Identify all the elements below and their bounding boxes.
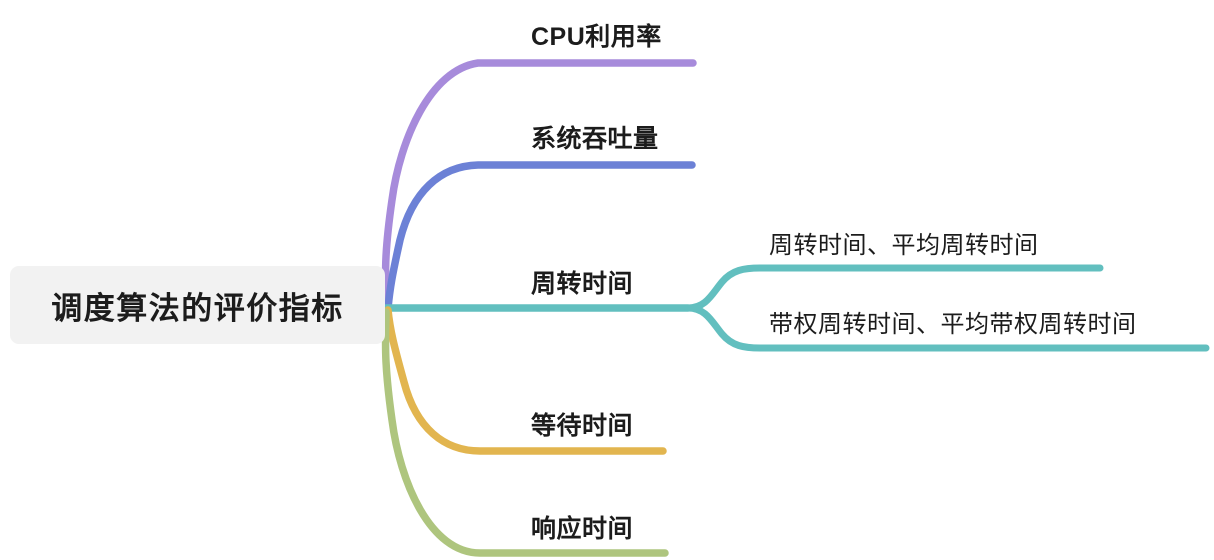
- root-node[interactable]: 调度算法的评价指标: [10, 266, 385, 344]
- branch-label-cpu[interactable]: CPU利用率: [531, 17, 662, 53]
- branch-label-turnaround-basic[interactable]: 周转时间、平均周转时间: [769, 225, 1039, 260]
- branch-label-turnaround[interactable]: 周转时间: [531, 264, 633, 300]
- branch-line-turnaround-basic: [688, 268, 1100, 308]
- root-node-label: 调度算法的评价指标: [51, 283, 344, 328]
- branch-label-waiting[interactable]: 等待时间: [531, 406, 633, 442]
- branch-label-turnaround-weighted[interactable]: 带权周转时间、平均带权周转时间: [769, 304, 1137, 339]
- branch-label-throughput[interactable]: 系统吞吐量: [531, 119, 659, 155]
- branch-label-response[interactable]: 响应时间: [531, 509, 633, 545]
- mindmap-canvas: 调度算法的评价指标 CPU利用率 系统吞吐量 周转时间 周转时间、平均周转时间 …: [0, 0, 1214, 560]
